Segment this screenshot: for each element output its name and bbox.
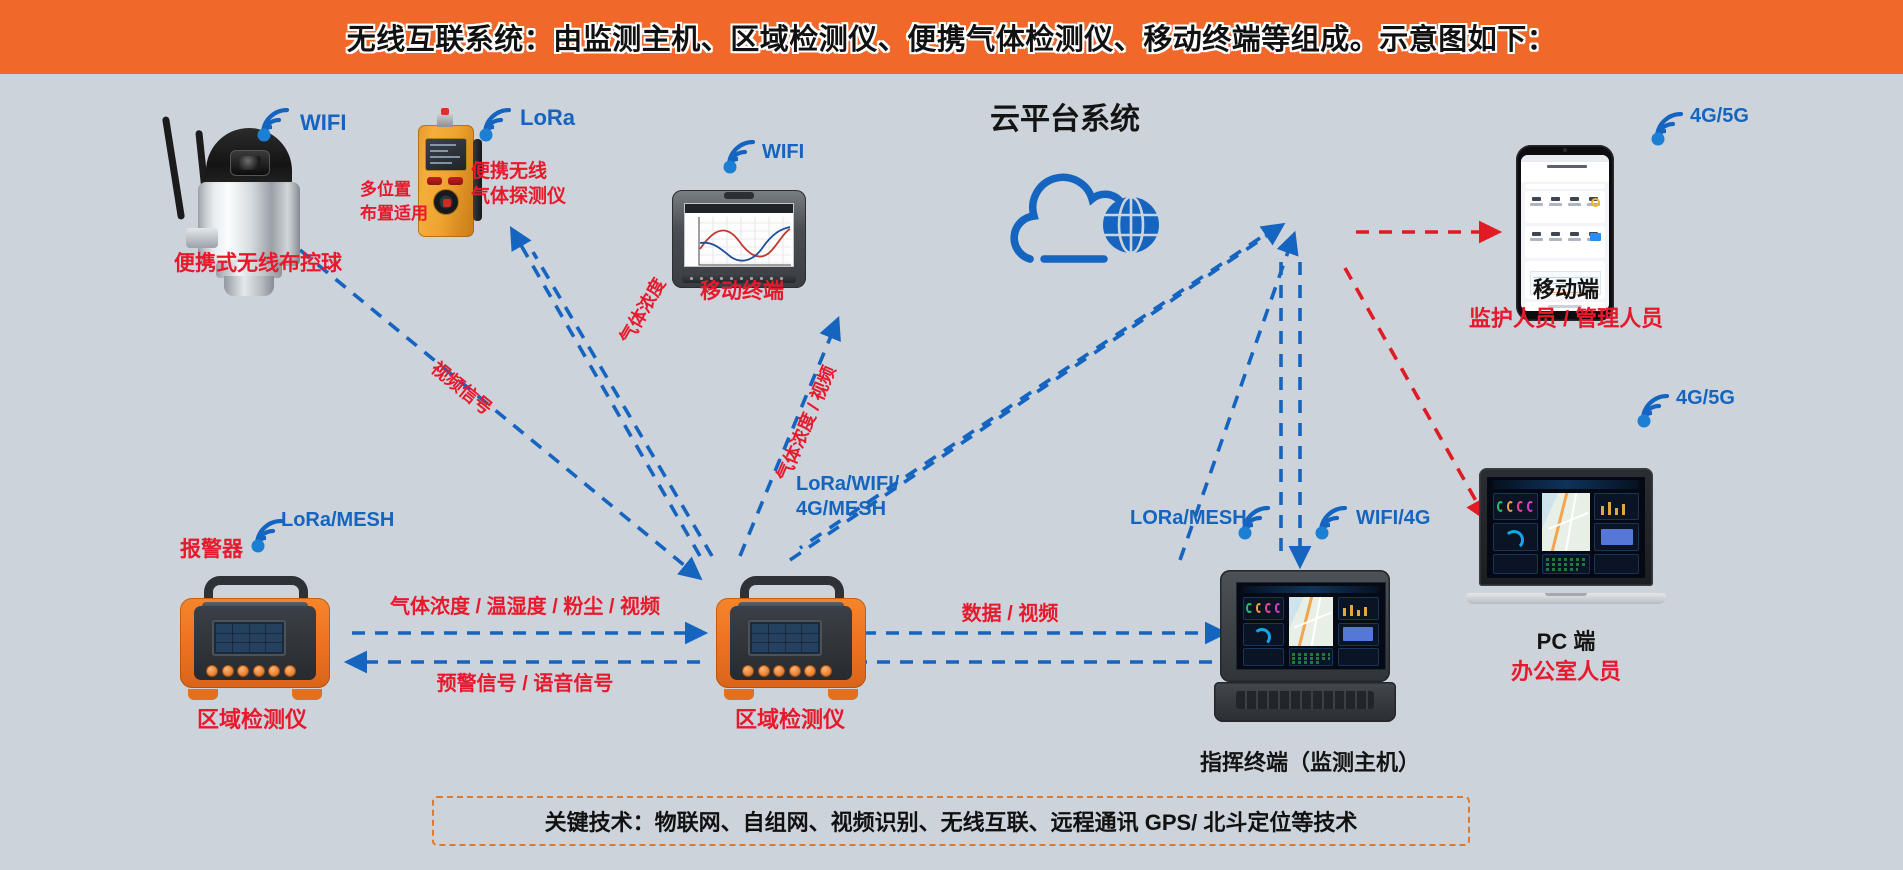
pc-laptop-device (1466, 468, 1666, 604)
wifi-signal-icon (722, 140, 760, 174)
laptop-lid (1479, 468, 1653, 586)
device-foot (724, 689, 754, 700)
ptz-camera-label: 便携式无线布控球 (174, 251, 342, 277)
mobile-label: 移动端 (1533, 277, 1599, 304)
phone-camera-icon (1563, 148, 1567, 152)
diagram-canvas: 无线互联系统：由监测主机、区域检测仪、便携气体检测仪、移动终端等组成。示意图如下… (0, 0, 1903, 870)
dashboard-video-panel (1338, 623, 1379, 646)
header-banner: 无线互联系统：由监测主机、区域检测仪、便携气体检测仪、移动终端等组成。示意图如下… (0, 0, 1903, 74)
key-technology-box: 关键技术：物联网、自组网、视频识别、无线互联、远程通讯 GPS/ 北斗定位等技术 (432, 796, 1470, 846)
main-area-detector-device (716, 576, 866, 694)
dashboard-ring-panel (1243, 623, 1284, 646)
wifi-signal-icon (1650, 112, 1688, 146)
dashboard-gauge-panel (1243, 597, 1284, 620)
dashboard-panel-b (1594, 554, 1638, 574)
camera-connector (186, 228, 218, 248)
tablet-chart (685, 213, 793, 266)
device-foot (828, 689, 858, 700)
dashboard-panel-a (1493, 554, 1537, 574)
device-display (212, 620, 286, 656)
mobile-role-label: 监护人员 / 管理人员 (1469, 306, 1663, 333)
page-title: 无线互联系统：由监测主机、区域检测仪、便携气体检测仪、移动终端等组成。示意图如下… (347, 16, 1557, 58)
terminal-right-signal-label: WIFI/4G (1356, 506, 1430, 530)
device-buttons (206, 665, 296, 678)
pc-dashboard (1487, 477, 1645, 578)
gas-detector-label-line1: 便携无线 (471, 160, 547, 183)
dashboard-gauge-panel (1493, 493, 1537, 520)
camera-lens-icon (239, 156, 261, 170)
gas-detector-note-line2: 布置适用 (360, 204, 428, 225)
edge-label-gas-concentration: 气体浓度 (616, 275, 671, 348)
pc-signal-label: 4G/5G (1676, 386, 1735, 410)
antenna-icon (162, 116, 185, 220)
phone-stats-card-2 (1525, 226, 1605, 258)
keyboard-keys (1236, 691, 1374, 709)
terminal-keyboard (1214, 682, 1396, 722)
detector-button (427, 177, 442, 185)
cloud-globe-icon (1008, 155, 1188, 273)
main-area-detector-label: 区域检测仪 (735, 707, 845, 734)
wifi-signal-icon (1636, 394, 1674, 428)
mobile-signal-label: 4G/5G (1690, 104, 1749, 128)
edge-label-lora-wifi-line2: 4G/MESH (796, 497, 886, 521)
detector-screen (425, 138, 467, 171)
dashboard-panel-b (1338, 648, 1379, 665)
dashboard-panel-a (1243, 648, 1284, 665)
tablet-screen (684, 203, 794, 267)
edge-label-data-video: 数据 / 视频 (962, 602, 1059, 626)
device-display (748, 620, 822, 656)
alarm-area-detector-device (180, 576, 330, 694)
wifi-signal-icon (1314, 506, 1352, 540)
edge-label-gas-temp-dust-video: 气体浓度 / 温湿度 / 粉尘 / 视频 (390, 595, 660, 619)
dashboard-bars-panel (1338, 597, 1379, 620)
phone-stats-card-1 (1525, 191, 1605, 223)
device-foot (188, 689, 218, 700)
key-technology-text: 关键技术：物联网、自组网、视频识别、无线互联、远程通讯 GPS/ 北斗定位等技术 (545, 805, 1358, 837)
edge-label-alarm-voice: 预警信号 / 语音信号 (437, 672, 614, 696)
ptz-signal-label: WIFI (300, 110, 346, 137)
sensor-probe-icon (437, 114, 453, 127)
arrow-detector-to-gasdetector-b (533, 252, 712, 556)
gas-detector-note-line1: 多位置 (360, 180, 411, 201)
dashboard-log-panel (1542, 554, 1589, 574)
terminal-lid (1220, 570, 1390, 682)
device-buttons (742, 665, 832, 678)
phone-appbar (1521, 162, 1609, 171)
device-foot (292, 689, 322, 700)
tablet-signal-label: WIFI (762, 140, 804, 164)
alarm-area-detector-label: 区域检测仪 (197, 707, 307, 734)
pc-label: PC 端 (1537, 629, 1596, 656)
gas-detector-signal-label: LoRa (520, 105, 575, 132)
dashboard-ring-panel (1493, 523, 1537, 550)
phone-toolbar (1521, 171, 1609, 182)
tablet-notch (724, 192, 754, 199)
alarm-label: 报警器 (180, 537, 243, 563)
dashboard-map (1542, 493, 1589, 551)
phone-tabbar (1525, 184, 1605, 189)
terminal-dashboard (1237, 583, 1385, 669)
cloud-platform-title: 云平台系统 (990, 102, 1140, 139)
dashboard-header (1493, 480, 1638, 489)
phone-statusbar (1521, 155, 1609, 162)
dashboard-header (1243, 586, 1379, 594)
dashboard-bars-panel (1594, 493, 1638, 520)
tablet-statusbar (685, 204, 793, 213)
edge-label-lora-wifi-line1: LoRa/WIFI/ (796, 472, 899, 496)
camera-base (224, 276, 274, 296)
terminal-left-signal-label: LORa/MESH (1130, 506, 1247, 530)
laptop-screen (1487, 477, 1645, 578)
dashboard-video-panel (1594, 523, 1638, 550)
dashboard-map (1289, 597, 1333, 646)
wifi-signal-icon (256, 108, 294, 142)
mobile-tablet-device (672, 190, 806, 288)
terminal-screen (1236, 582, 1386, 670)
wifi-signal-icon (478, 108, 516, 142)
detector-dpad-icon (433, 189, 459, 215)
laptop-deck (1466, 593, 1666, 604)
pc-role-label: 办公室人员 (1511, 659, 1621, 686)
gas-detector-label-line2: 气体探测仪 (471, 185, 566, 208)
edge-label-video-signal: 视频信号 (426, 358, 496, 420)
dashboard-log-panel (1289, 648, 1333, 665)
tablet-label: 移动终端 (700, 279, 784, 305)
command-terminal-device (1214, 570, 1396, 722)
detector-button (448, 177, 463, 185)
edge-label-gas-video: 气体浓度 / 视频 (773, 363, 841, 485)
alarm-signal-label: LoRa/MESH (281, 508, 394, 532)
command-terminal-label: 指挥终端（监测主机） (1200, 750, 1420, 777)
arrow-cloud-to-pc (1345, 268, 1480, 508)
